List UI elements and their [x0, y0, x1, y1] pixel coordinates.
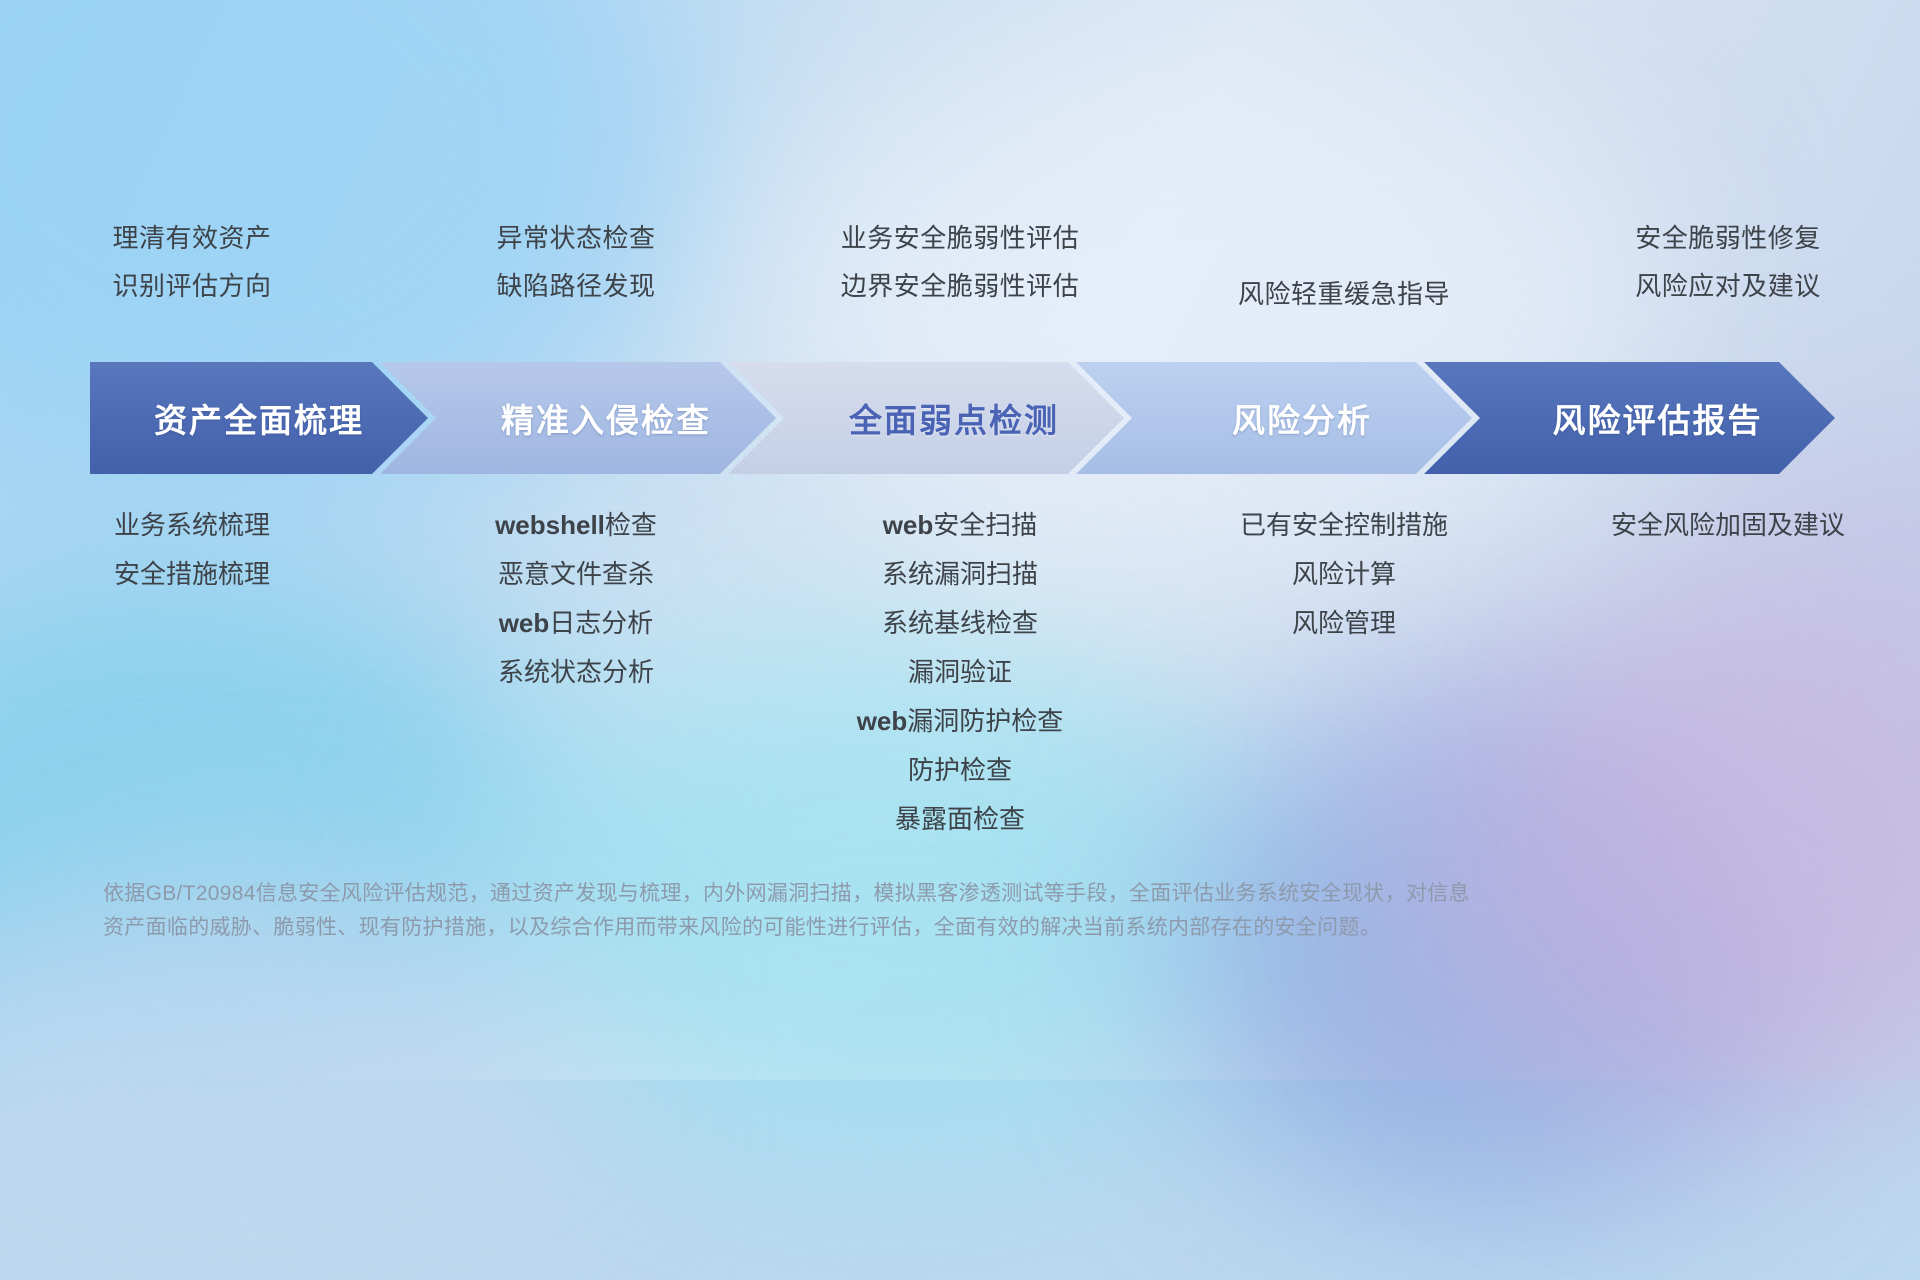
detail-text: 安全风险加固及建议 — [1611, 510, 1845, 540]
detail-item: web日志分析 — [499, 610, 654, 636]
detail-text: 风险管理 — [1292, 608, 1396, 638]
detail-text: 检查 — [605, 510, 657, 540]
detail-text: 恶意文件查杀 — [498, 559, 654, 589]
detail-item: 业务系统梳理 — [114, 512, 270, 538]
bottom-column-stage-4: 已有安全控制措施 风险计算 风险管理 — [1152, 512, 1536, 855]
detail-text: 漏洞防护检查 — [907, 706, 1063, 736]
arrow-shape-stage-1 — [90, 362, 428, 474]
top-item: 识别评估方向 — [112, 273, 271, 299]
footnote-line-2: 资产面临的威胁、脆弱性、现有防护措施，以及综合作用而带来风险的可能性进行评估，全… — [103, 911, 1623, 945]
bottom-column-stage-1: 业务系统梳理 安全措施梳理 — [0, 512, 384, 855]
arrow-shape-stage-3 — [728, 362, 1124, 474]
top-column-stage-3: 业务安全脆弱性评估 边界安全脆弱性评估 — [768, 225, 1152, 335]
top-column-stage-5: 安全脆弱性修复 风险应对及建议 — [1536, 225, 1920, 335]
footnote: 依据GB/T20984信息安全风险评估规范，通过资产发现与梳理，内外网漏洞扫描，… — [103, 877, 1623, 945]
detail-item: web漏洞防护检查 — [857, 708, 1064, 734]
detail-item: 安全风险加固及建议 — [1611, 512, 1845, 538]
detail-item: 已有安全控制措施 — [1240, 512, 1448, 538]
process-arrow-band: 资产全面梳理 精准入侵检查 全面弱点检测 风险分析 风险评估报告 — [90, 362, 1835, 474]
top-item: 理清有效资产 — [112, 225, 271, 251]
detail-text: 系统基线检查 — [882, 608, 1038, 638]
detail-item: 系统基线检查 — [882, 610, 1038, 636]
detail-en: web — [883, 510, 934, 540]
detail-text: 风险计算 — [1292, 559, 1396, 589]
detail-item: webshell检查 — [495, 512, 657, 538]
top-caption-row: 理清有效资产 识别评估方向 异常状态检查 缺陷路径发现 业务安全脆弱性评估 边界… — [0, 225, 1920, 335]
arrow-shape-stage-2 — [380, 362, 776, 474]
detail-text: 漏洞验证 — [908, 657, 1012, 687]
detail-item: 漏洞验证 — [908, 659, 1012, 685]
top-item: 异常状态检查 — [496, 225, 655, 251]
top-item: 风险应对及建议 — [1635, 273, 1821, 299]
detail-en: web — [499, 608, 550, 638]
detail-text: 业务系统梳理 — [114, 510, 270, 540]
detail-text: 暴露面检查 — [895, 804, 1025, 834]
top-item: 风险轻重缓急指导 — [1238, 281, 1450, 307]
detail-text: 日志分析 — [549, 608, 653, 638]
detail-en: web — [857, 706, 908, 736]
detail-item: 安全措施梳理 — [114, 561, 270, 587]
detail-text: 防护检查 — [908, 755, 1012, 785]
detail-item: 风险计算 — [1292, 561, 1396, 587]
top-column-stage-1: 理清有效资产 识别评估方向 — [0, 225, 384, 335]
detail-text: 安全扫描 — [933, 510, 1037, 540]
top-item: 业务安全脆弱性评估 — [841, 225, 1080, 251]
detail-item: 系统状态分析 — [498, 659, 654, 685]
top-item: 安全脆弱性修复 — [1635, 225, 1821, 251]
bottom-detail-row: 业务系统梳理 安全措施梳理 webshell检查 恶意文件查杀 web日志分析 … — [0, 512, 1920, 855]
detail-text: 系统漏洞扫描 — [882, 559, 1038, 589]
detail-text: 系统状态分析 — [498, 657, 654, 687]
bottom-column-stage-5: 安全风险加固及建议 — [1536, 512, 1920, 855]
detail-item: 防护检查 — [908, 757, 1012, 783]
bottom-column-stage-2: webshell检查 恶意文件查杀 web日志分析 系统状态分析 — [384, 512, 768, 855]
detail-text: 安全措施梳理 — [114, 559, 270, 589]
top-column-stage-2: 异常状态检查 缺陷路径发现 — [384, 225, 768, 335]
detail-item: web安全扫描 — [883, 512, 1038, 538]
arrow-shape-stage-4 — [1076, 362, 1472, 474]
footnote-line-1: 依据GB/T20984信息安全风险评估规范，通过资产发现与梳理，内外网漏洞扫描，… — [103, 877, 1623, 911]
top-column-stage-4: 风险轻重缓急指导 — [1152, 225, 1536, 335]
detail-en: webshell — [495, 510, 605, 540]
top-item: 边界安全脆弱性评估 — [841, 273, 1080, 299]
bottom-column-stage-3: web安全扫描 系统漏洞扫描 系统基线检查 漏洞验证 web漏洞防护检查 防护检… — [768, 512, 1152, 855]
detail-item: 风险管理 — [1292, 610, 1396, 636]
arrow-shape-stage-5 — [1424, 362, 1835, 474]
detail-item: 系统漏洞扫描 — [882, 561, 1038, 587]
top-item: 缺陷路径发现 — [496, 273, 655, 299]
detail-item: 暴露面检查 — [895, 806, 1025, 832]
detail-text: 已有安全控制措施 — [1240, 510, 1448, 540]
detail-item: 恶意文件查杀 — [498, 561, 654, 587]
